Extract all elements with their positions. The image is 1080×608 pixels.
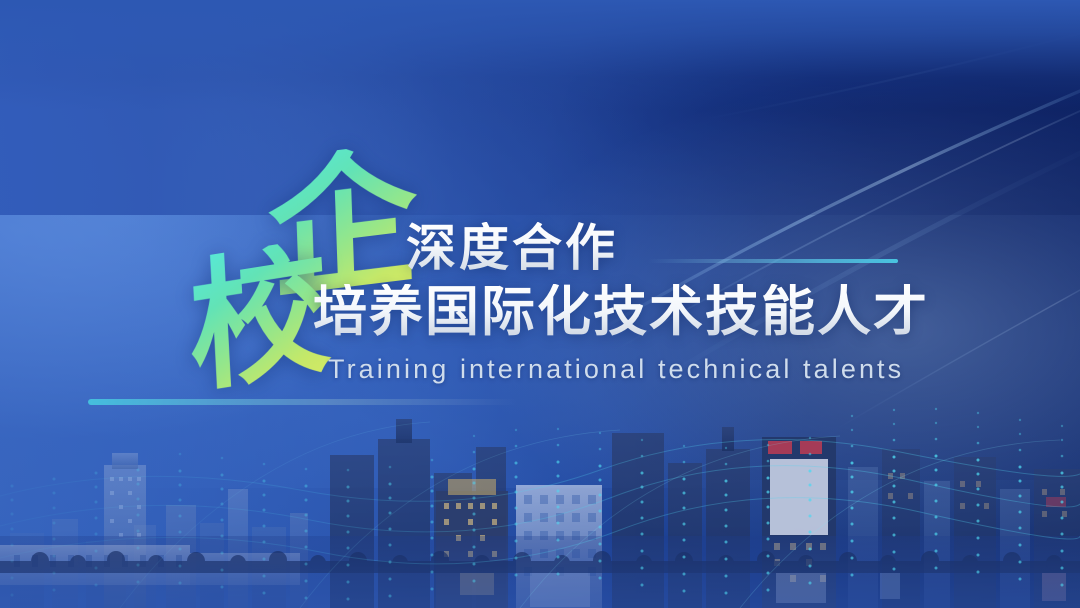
subtitle-english: Training international technical talents [328,355,904,385]
headline-secondary: 培养国际化技术技能人才 [313,284,929,341]
accent-rule-bottom [88,399,518,405]
brush-char-xiao: 校 [185,237,333,402]
headline-group: 企 校 深度合作 培养国际化技术技能人才 Training internatio… [0,0,1080,608]
poster-canvas: 企 校 深度合作 培养国际化技术技能人才 Training internatio… [0,0,1080,608]
accent-rule-top [648,259,898,263]
headline-primary: 深度合作 [406,222,618,275]
